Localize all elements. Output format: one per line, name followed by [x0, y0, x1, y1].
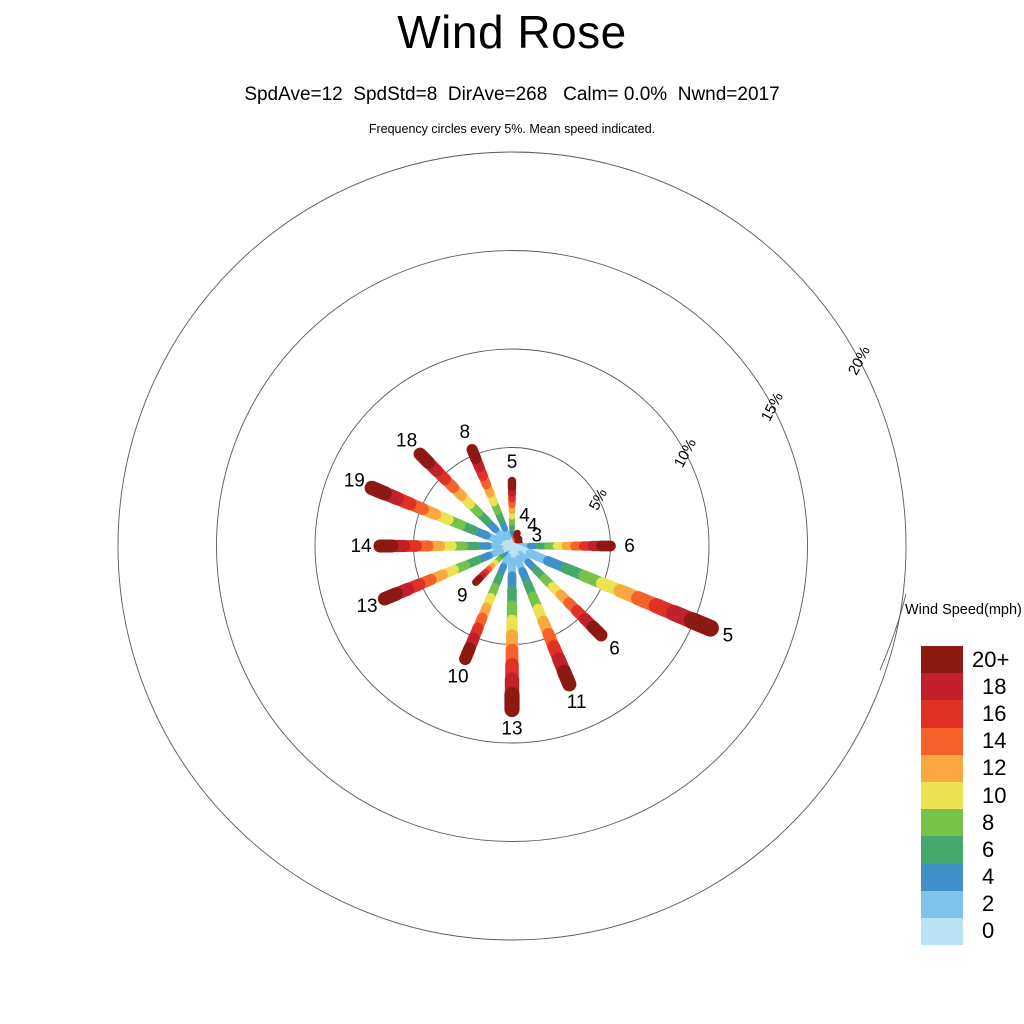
- legend-leader-line: [880, 594, 906, 670]
- petal-segment: [420, 454, 428, 462]
- legend-color-swatch: [921, 673, 963, 700]
- legend-row: 8: [921, 809, 1021, 836]
- legend-row: 6: [921, 836, 1021, 863]
- legend-color-swatch: [921, 755, 963, 782]
- petal-mean-speed-label: 11: [567, 692, 587, 713]
- petal-segment: [692, 621, 710, 628]
- petal-segment: [465, 649, 469, 659]
- legend-label: 4: [972, 866, 1021, 888]
- legend-label: 20+: [972, 649, 1020, 671]
- wind-rose-svg: 54436561113109131419188 5%10%15%20%: [0, 0, 1024, 1024]
- petals: [372, 450, 711, 710]
- petal-mean-speed-label: 3: [532, 526, 543, 547]
- legend-label: 6: [972, 839, 1021, 861]
- legend-label: 12: [972, 757, 1021, 779]
- legend-label: 10: [972, 785, 1021, 807]
- legend-color-swatch: [921, 700, 963, 727]
- legend-color-swatch: [921, 728, 963, 755]
- wind-rose-page: Wind Rose SpdAve=12 SpdStd=8 DirAve=268 …: [0, 0, 1024, 1024]
- legend-row: 18: [921, 673, 1021, 700]
- legend-row: 0: [921, 918, 1021, 945]
- petal-segment: [372, 488, 385, 493]
- petal-mean-speed-label: 6: [624, 536, 635, 557]
- legend-row: 2: [921, 891, 1021, 918]
- legend-row: 12: [921, 755, 1021, 782]
- petal-mean-speed-label: 6: [609, 639, 620, 660]
- legend-row: 20+: [921, 646, 1021, 673]
- petal-mean-speed-label: 8: [459, 422, 470, 443]
- legend-row: 10: [921, 782, 1021, 809]
- legend-title: Wind Speed(mph): [905, 602, 1022, 618]
- legend-color-swatch: [921, 836, 963, 863]
- petal-mean-speed-label: 18: [396, 431, 417, 452]
- petal-mean-speed-label: 14: [350, 536, 372, 557]
- wind-rose-plot: 54436561113109131419188 5%10%15%20%: [0, 0, 1024, 1024]
- legend-row: 14: [921, 728, 1021, 755]
- legend-label: 2: [972, 893, 1021, 915]
- ring-labels: 5%10%15%20%: [586, 344, 874, 514]
- legend-row: 4: [921, 864, 1021, 891]
- legend-color-swatch: [921, 809, 963, 836]
- petal-mean-speed-labels: 54436561113109131419188: [344, 422, 733, 740]
- legend-label: 0: [972, 920, 1021, 942]
- legend-color-swatch: [921, 864, 963, 891]
- ring-label: 10%: [671, 436, 700, 470]
- petal-segment: [476, 579, 479, 582]
- petal-segment: [593, 627, 601, 635]
- legend-color-swatch: [921, 782, 963, 809]
- petal-segment: [564, 672, 569, 685]
- wind-speed-legend: 20+181614121086420: [921, 646, 1021, 945]
- petal-mean-speed-label: 10: [447, 666, 468, 687]
- ring-label: 5%: [586, 486, 611, 513]
- petal-mean-speed-label: 19: [344, 471, 365, 492]
- ring-label: 20%: [845, 344, 874, 378]
- petal-mean-speed-label: 9: [457, 586, 468, 607]
- legend-color-swatch: [921, 646, 963, 673]
- petal-mean-speed-label: 5: [507, 452, 518, 473]
- petal-mean-speed-label: 13: [501, 719, 522, 740]
- legend-label: 16: [972, 703, 1021, 725]
- legend-label: 14: [972, 730, 1021, 752]
- legend-color-swatch: [921, 918, 963, 945]
- petal-segment: [472, 450, 476, 459]
- leader-line: [880, 594, 906, 670]
- ring-label: 15%: [758, 390, 787, 424]
- legend-label: 8: [972, 812, 1021, 834]
- legend-color-swatch: [921, 891, 963, 918]
- petal-mean-speed-label: 13: [356, 596, 377, 617]
- petal-segment: [385, 594, 397, 599]
- legend-label: 18: [972, 676, 1021, 698]
- petal-mean-speed-label: 5: [723, 625, 734, 646]
- legend-row: 16: [921, 700, 1021, 727]
